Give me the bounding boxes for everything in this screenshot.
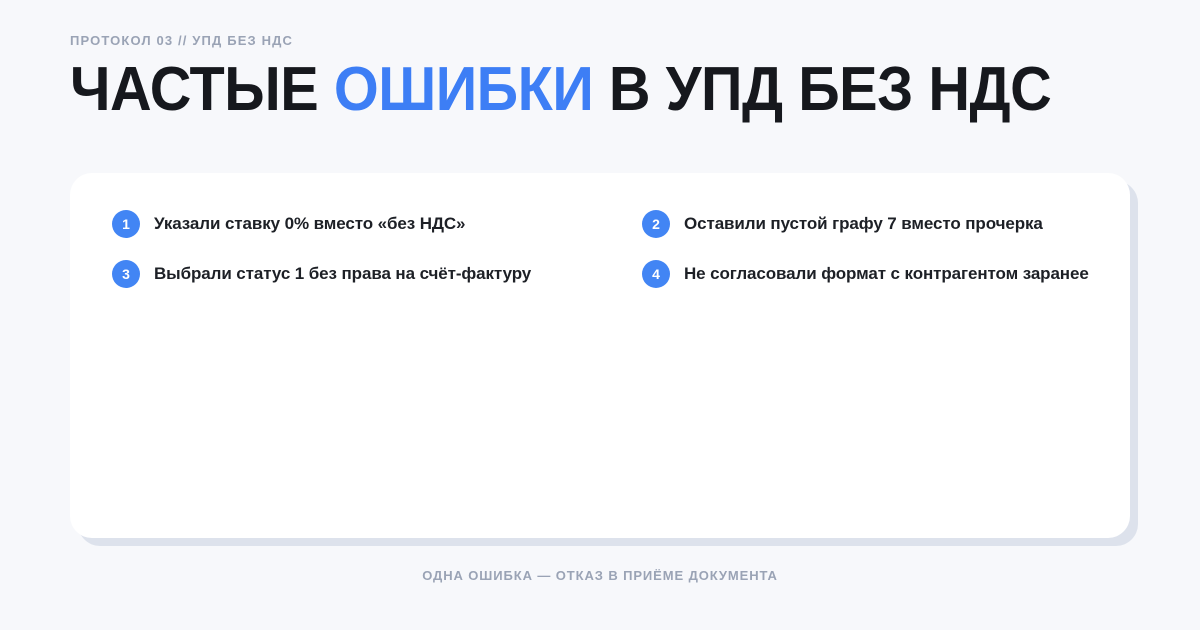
page-title: ЧАСТЫЕ ОШИБКИ В УПД БЕЗ НДС: [70, 60, 1056, 121]
list-item-text: Выбрали статус 1 без права на счёт-факту…: [154, 259, 531, 286]
list-item-number-badge: 1: [112, 210, 140, 238]
slide-root: ПРОТОКОЛ 03 // УПД БЕЗ НДС ЧАСТЫЕ ОШИБКИ…: [0, 0, 1200, 630]
page-title-part-before: ЧАСТЫЕ: [70, 55, 334, 124]
page-title-accent: ОШИБКИ: [334, 55, 594, 124]
mistakes-list: 1 Указали ставку 0% вместо «без НДС» 2 О…: [112, 209, 1088, 288]
list-item: 2 Оставили пустой графу 7 вместо прочерк…: [642, 209, 1172, 238]
list-item-text: Не согласовали формат с контрагентом зар…: [684, 259, 1089, 286]
list-item: 4 Не согласовали формат с контрагентом з…: [642, 259, 1172, 288]
list-item: 1 Указали ставку 0% вместо «без НДС»: [112, 209, 642, 238]
eyebrow-label: ПРОТОКОЛ 03 // УПД БЕЗ НДС: [70, 34, 1130, 47]
page-title-part-after: В УПД БЕЗ НДС: [593, 55, 1051, 124]
list-item-number-badge: 4: [642, 260, 670, 288]
list-item-number-badge: 3: [112, 260, 140, 288]
list-item-text: Указали ставку 0% вместо «без НДС»: [154, 209, 465, 236]
footer-note: ОДНА ОШИБКА — ОТКАЗ В ПРИЁМЕ ДОКУМЕНТА: [0, 568, 1200, 583]
content-card-wrapper: 1 Указали ставку 0% вместо «без НДС» 2 О…: [70, 173, 1130, 538]
content-card: 1 Указали ставку 0% вместо «без НДС» 2 О…: [70, 173, 1130, 538]
slide-header: ПРОТОКОЛ 03 // УПД БЕЗ НДС ЧАСТЫЕ ОШИБКИ…: [70, 34, 1130, 162]
list-item-text: Оставили пустой графу 7 вместо прочерка: [684, 209, 1043, 236]
list-item: 3 Выбрали статус 1 без права на счёт-фак…: [112, 259, 642, 288]
list-item-number-badge: 2: [642, 210, 670, 238]
